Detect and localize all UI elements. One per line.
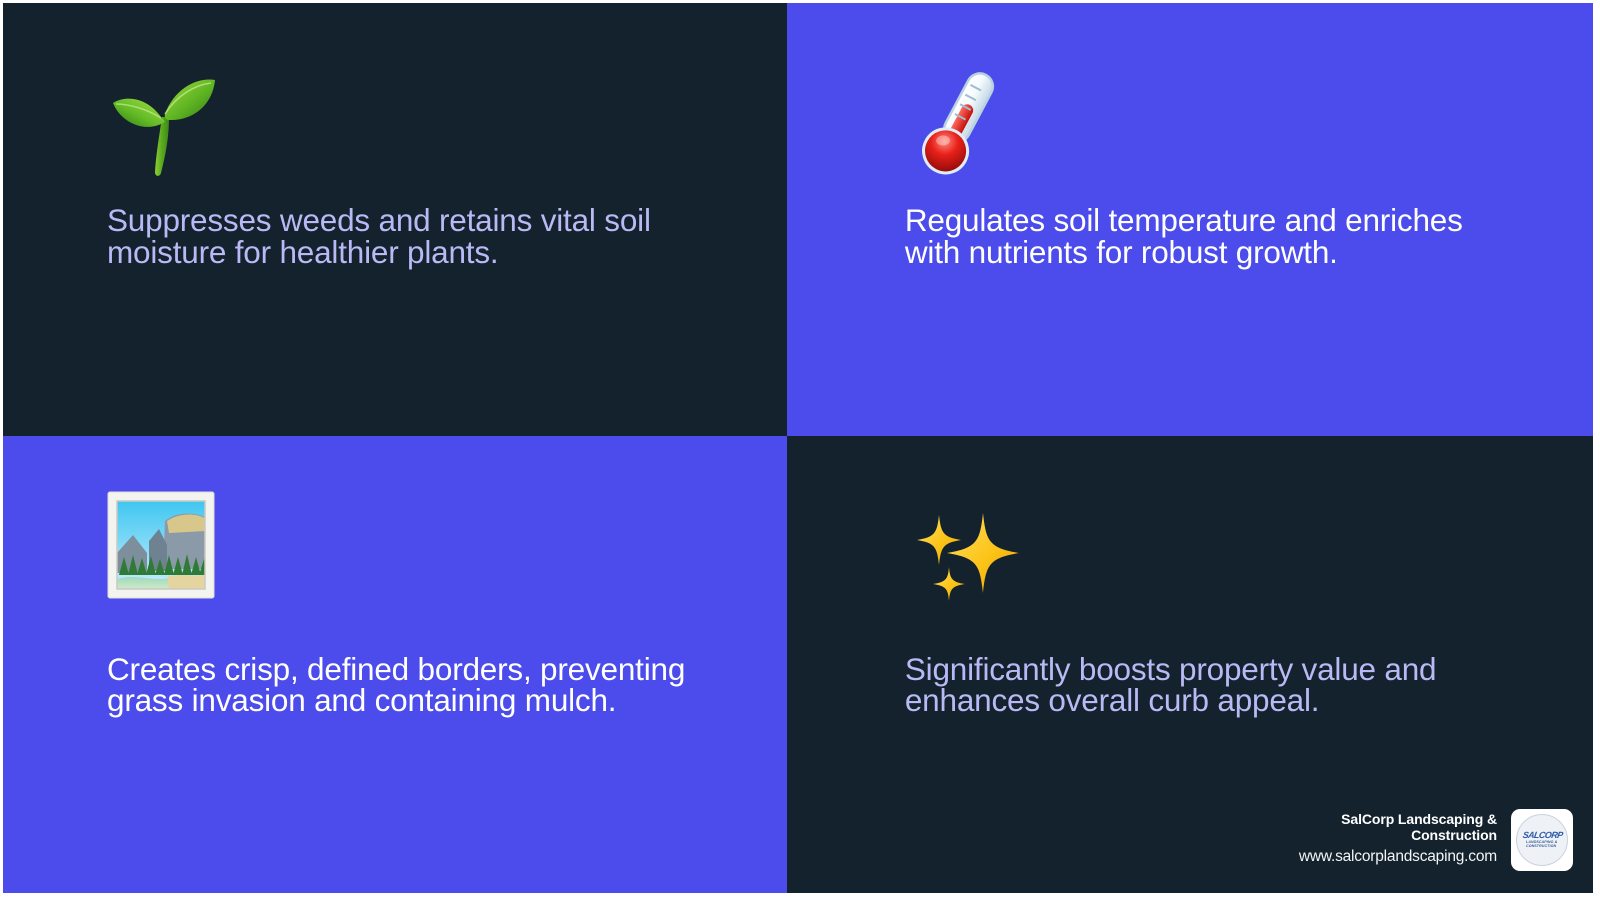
quadrant-top-left: Suppresses weeds and retains vital soil …: [3, 3, 787, 436]
brand-website[interactable]: www.salcorplandscaping.com: [1282, 847, 1497, 868]
brand-logo-mark-text: SALCORP: [1522, 830, 1563, 840]
brand-logo-circle: SALCORP LANDSCAPING & CONSTRUCTION: [1516, 814, 1568, 866]
brand-footer: SalCorp Landscaping & Construction www.s…: [1282, 809, 1573, 871]
quadrant-text: Suppresses weeds and retains vital soil …: [107, 205, 707, 268]
quadrant-top-right: Regulates soil temperature and enriches …: [787, 3, 1593, 436]
thermometer-icon: [905, 65, 1593, 185]
quadrant-text: Creates crisp, defined borders, preventi…: [107, 654, 707, 717]
brand-logo-mark: SALCORP LANDSCAPING & CONSTRUCTION: [1516, 831, 1568, 848]
brand-text-block: SalCorp Landscaping & Construction www.s…: [1282, 812, 1497, 867]
quadrant-bottom-right: Significantly boosts property value and …: [787, 436, 1593, 893]
sparkles-icon: [905, 491, 1593, 626]
quadrant-text: Regulates soil temperature and enriches …: [905, 205, 1485, 268]
seedling-icon: [107, 65, 787, 185]
quadrant-text: Significantly boosts property value and …: [905, 654, 1485, 717]
brand-logo-mark-subtext: LANDSCAPING & CONSTRUCTION: [1516, 841, 1567, 848]
framed-picture-icon: [107, 491, 787, 626]
brand-logo[interactable]: SALCORP LANDSCAPING & CONSTRUCTION: [1511, 809, 1573, 871]
brand-company-name: SalCorp Landscaping & Construction: [1282, 812, 1497, 843]
infographic-canvas: Suppresses weeds and retains vital soil …: [0, 0, 1600, 900]
quadrant-grid: Suppresses weeds and retains vital soil …: [3, 3, 1593, 893]
quadrant-bottom-left: Creates crisp, defined borders, preventi…: [3, 436, 787, 893]
